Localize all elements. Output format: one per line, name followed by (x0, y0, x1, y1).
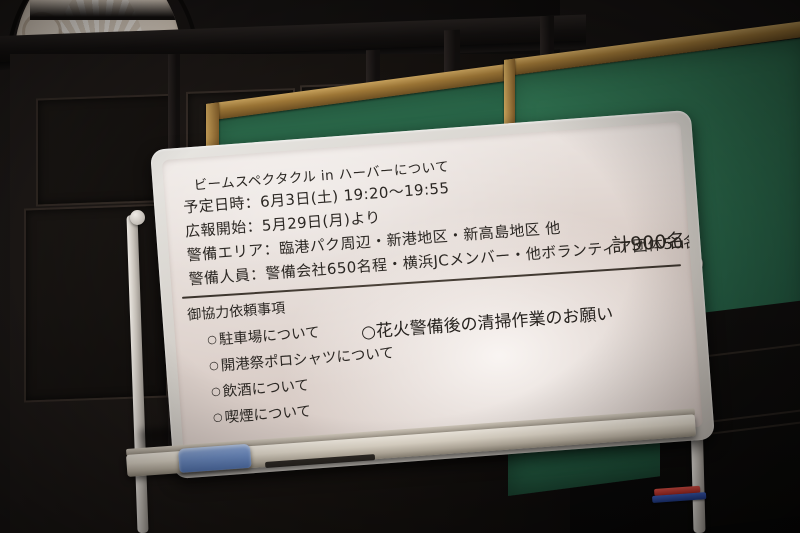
door-panel (24, 203, 168, 402)
bullet-label: 喫煙について (224, 404, 312, 426)
bullet-marker-icon: ○ (209, 359, 220, 373)
whiteboard-cleanup-request-note: ○花火警備後の清掃作業のお願い (360, 299, 614, 343)
bullet-label: 飲酒について (222, 378, 310, 400)
whiteboard-bullet-item: ○駐車場について (206, 321, 320, 350)
bullet-label: 開港祭ポロシャツについて (220, 346, 394, 375)
bullet-label: 駐車場について (218, 325, 320, 348)
stand-post-cap-left (130, 210, 145, 225)
whiteboard-total-count: 計900名 (610, 226, 686, 258)
whiteboard-section-heading: 御協力依頼事項 (187, 297, 286, 324)
photo-scene: ビームスペクタクル in ハーバーについて 予定日時：6月3日(土) 19:20… (0, 0, 800, 533)
bullet-marker-icon: ○ (211, 384, 222, 398)
bullet-marker-icon: ○ (213, 410, 224, 424)
bullet-marker-icon: ○ (207, 333, 218, 347)
whiteboard-bullet-item: ○飲酒について (210, 374, 309, 402)
whiteboard-bullet-item: ○喫煙について (212, 400, 311, 428)
